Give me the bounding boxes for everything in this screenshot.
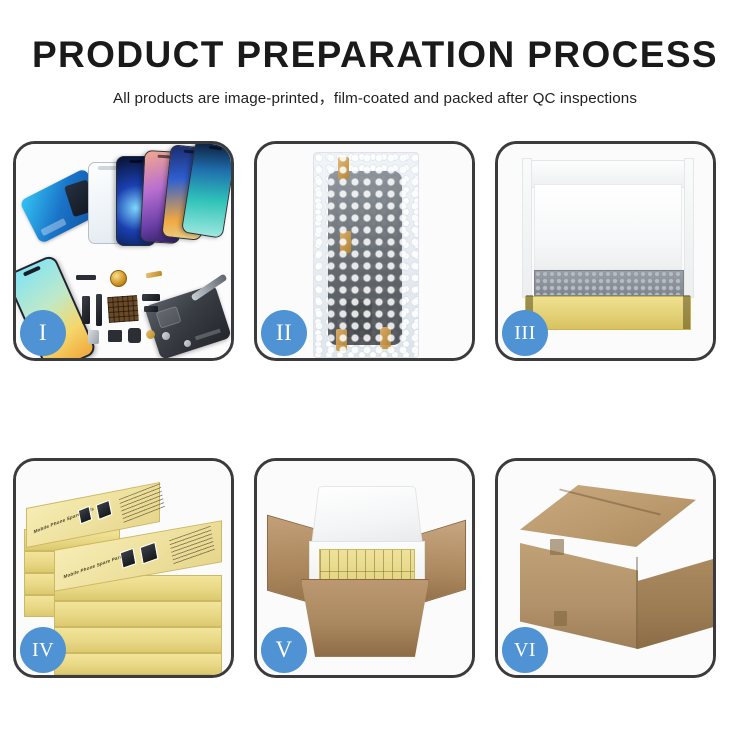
step-badge-6: VI — [502, 627, 548, 673]
screw-part — [146, 330, 155, 339]
stacked-box — [54, 653, 222, 675]
box-spec-lines — [169, 526, 215, 565]
battery-connector-part — [128, 328, 141, 343]
phone-notch-icon — [130, 160, 143, 163]
box-front-panel — [525, 296, 691, 330]
step-panel-5[interactable]: V — [254, 458, 475, 678]
step-badge-1: I — [20, 310, 66, 356]
chip-grid-part — [107, 295, 139, 323]
step-panel-1[interactable]: I — [13, 141, 234, 361]
box-corner-shadow — [683, 295, 690, 329]
step-panel-6[interactable]: VI — [495, 458, 716, 678]
flex-cable-part — [82, 296, 90, 324]
header: PRODUCT PREPARATION PROCESS All products… — [0, 34, 750, 108]
step-badge-5: V — [261, 627, 307, 673]
process-steps-grid: I II — [13, 141, 737, 678]
shipping-carton-open — [301, 579, 429, 657]
screw-part — [184, 340, 191, 347]
spare-part — [76, 275, 96, 280]
product-preparation-infographic: PRODUCT PREPARATION PROCESS All products… — [0, 0, 750, 750]
step-badge-3: III — [502, 310, 548, 356]
box-flap-right — [684, 158, 694, 298]
foam-sheet — [534, 184, 682, 270]
step-badge-2: II — [261, 310, 307, 356]
vibration-motor-part — [110, 270, 127, 287]
carton-tape-tab — [554, 611, 567, 626]
step-panel-3[interactable]: III — [495, 141, 716, 361]
box-product-thumbnail — [120, 548, 137, 569]
screw-part — [162, 332, 170, 340]
carton-edge — [636, 557, 638, 649]
flex-cable-part — [144, 306, 158, 312]
bubble-texture — [314, 153, 418, 357]
box-product-thumbnail — [96, 500, 113, 520]
stacked-box — [54, 601, 222, 627]
step-panel-4[interactable]: Mobile Phone Spare Parts Mobile Phone Sp… — [13, 458, 234, 678]
page-title: PRODUCT PREPARATION PROCESS — [0, 34, 750, 77]
box-flap-left — [522, 158, 532, 298]
carton-tape-tab — [550, 539, 564, 555]
box-product-thumbnail — [140, 542, 159, 565]
flex-cable-part — [142, 294, 160, 301]
box-label-text: Mobile Phone Spare Parts — [63, 553, 124, 579]
step-badge-4: IV — [20, 627, 66, 673]
carton-right-face — [638, 557, 713, 649]
camera-part — [88, 330, 99, 344]
speaker-part — [108, 330, 122, 342]
phone-notch-icon — [209, 146, 222, 151]
carton-top-face — [520, 485, 696, 547]
bubble-wrap-bag — [313, 152, 419, 358]
box-spec-lines — [119, 483, 165, 524]
styrofoam-lid — [311, 486, 423, 546]
flex-cable-part — [96, 294, 102, 326]
step-panel-2[interactable]: II — [254, 141, 475, 361]
stacked-box — [54, 627, 222, 653]
grey-bubble-padding — [534, 270, 684, 296]
page-subtitle: All products are image-printed，film-coat… — [0, 86, 750, 108]
box-product-thumbnail — [78, 506, 93, 525]
